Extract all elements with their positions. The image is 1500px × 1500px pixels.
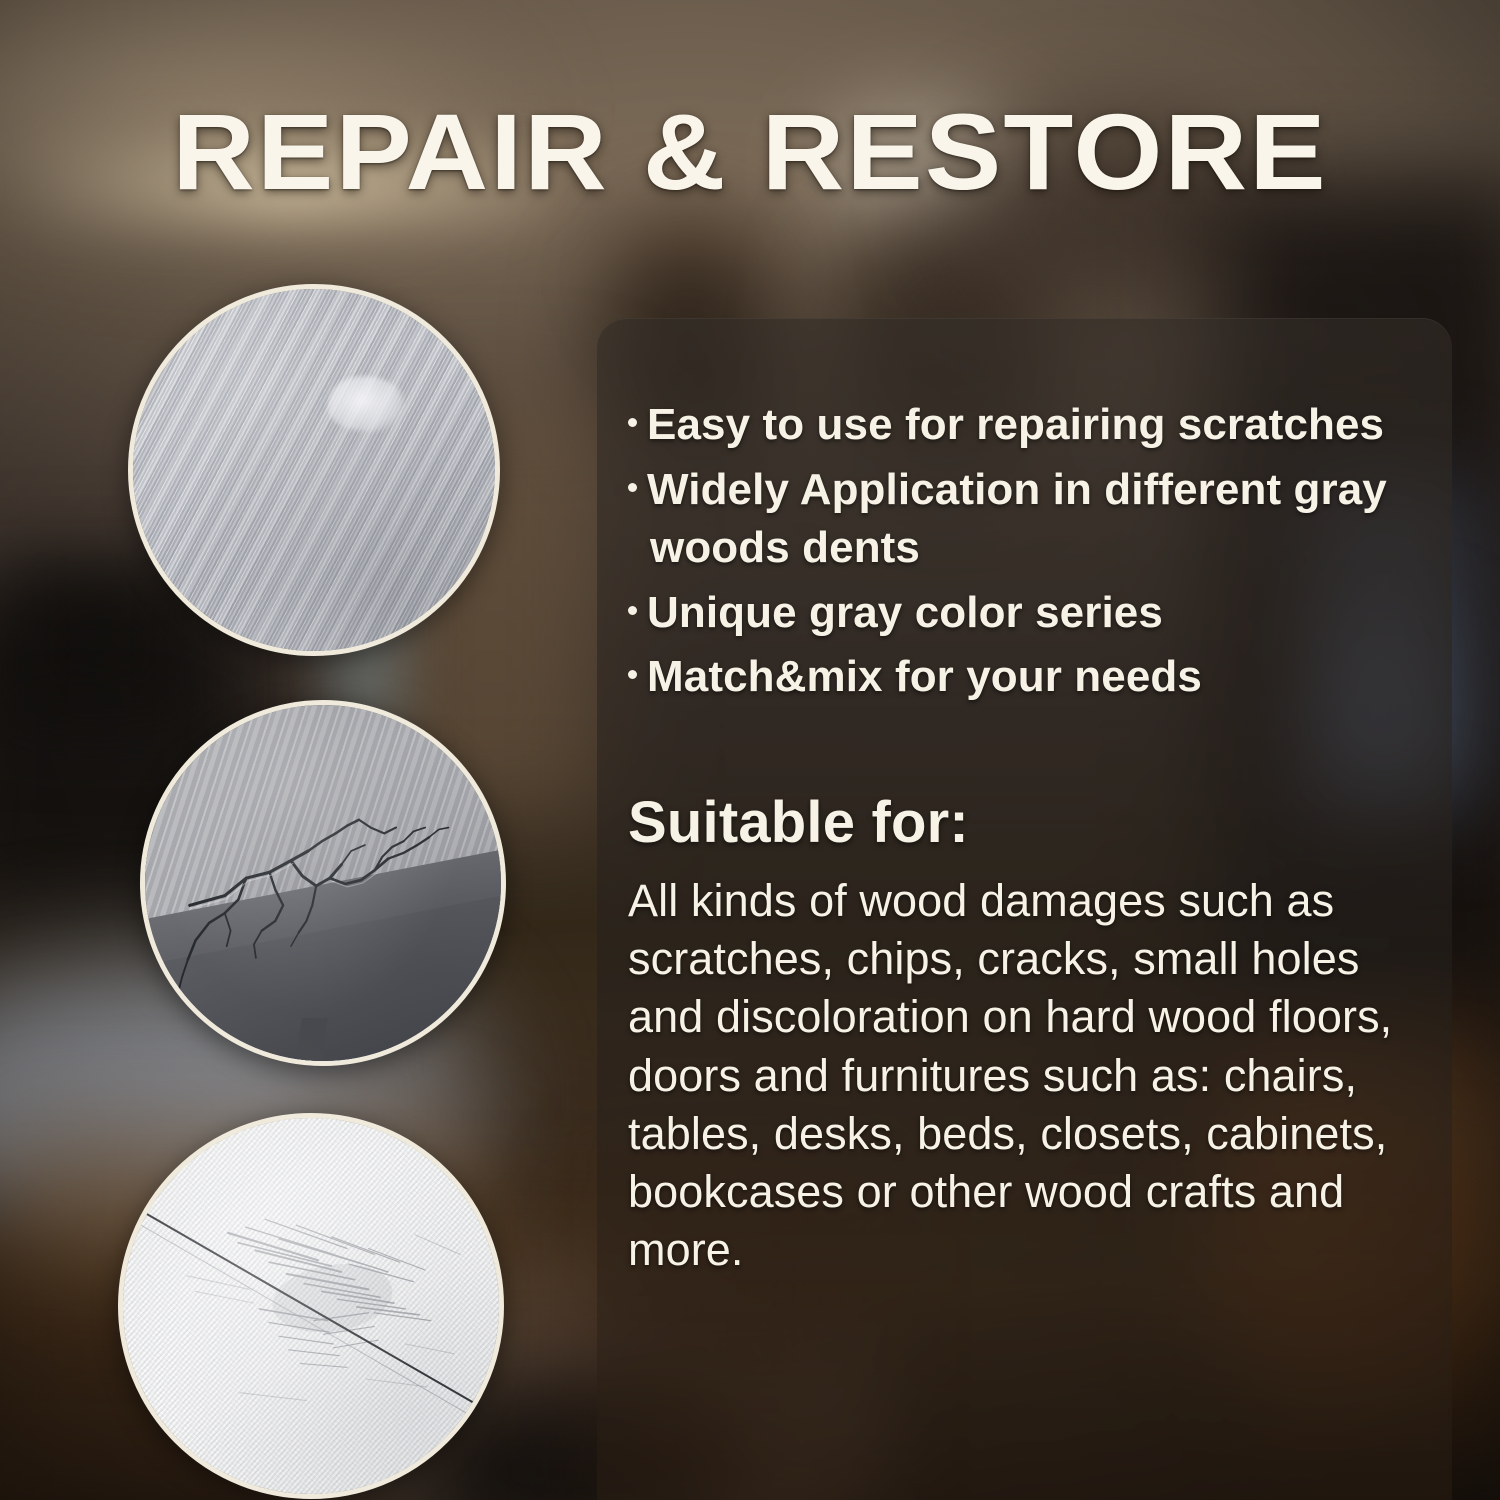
photo-gray-wood-stain (128, 284, 500, 656)
feature-text: Unique gray color series (647, 588, 1163, 637)
feature-text: Match&mix for your needs (647, 652, 1202, 701)
list-item: Unique gray color series (628, 584, 1428, 643)
feature-text: Easy to use for repairing scratches (647, 400, 1384, 449)
photo-shading (145, 705, 501, 1061)
list-item: Widely Application in different gray woo… (628, 461, 1428, 578)
suitable-for-heading: Suitable for: (628, 791, 1428, 855)
list-item: Match&mix for your needs (628, 648, 1428, 707)
photo-scratched-white-floor (118, 1113, 504, 1499)
bullet-dot-icon (628, 670, 637, 679)
feature-text: Widely Application in different gray woo… (647, 465, 1387, 573)
suitable-for-body: All kinds of wood damages such as scratc… (628, 872, 1418, 1278)
photo-cracked-gray-table (140, 700, 506, 1066)
photo-shading (133, 289, 495, 651)
panel-content: Easy to use for repairing scratches Wide… (628, 318, 1428, 1500)
page-title: REPAIR & RESTORE (0, 98, 1500, 206)
bullet-dot-icon (628, 606, 637, 615)
photo-shading (123, 1118, 499, 1494)
bullet-dot-icon (628, 418, 637, 427)
bullet-dot-icon (628, 483, 637, 492)
product-infographic: REPAIR & RESTORE Easy to use for repairi… (0, 0, 1500, 1500)
feature-list: Easy to use for repairing scratches Wide… (628, 396, 1428, 707)
list-item: Easy to use for repairing scratches (628, 396, 1428, 455)
